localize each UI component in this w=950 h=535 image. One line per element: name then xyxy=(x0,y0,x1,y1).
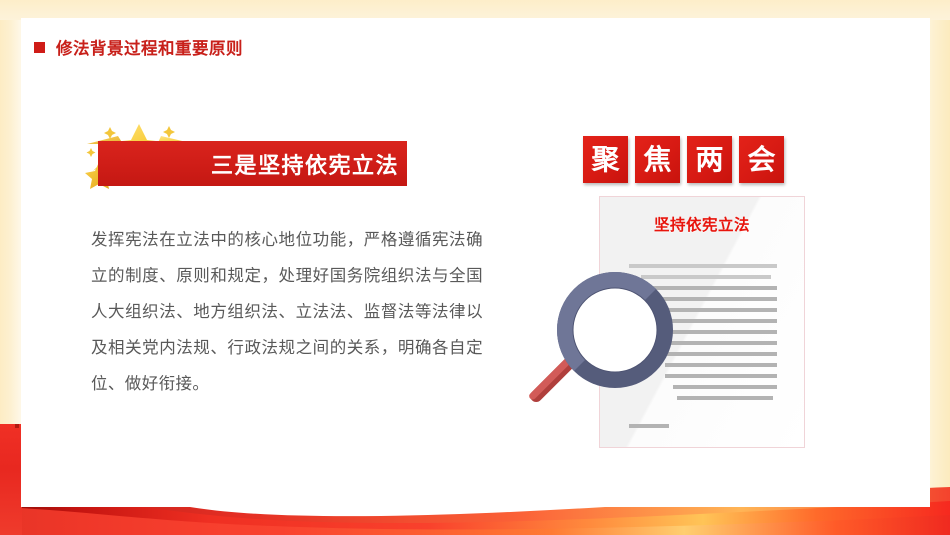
focus-badge-group: 聚 焦 两 会 xyxy=(583,136,784,183)
focus-badge: 聚 xyxy=(583,136,628,183)
magnifying-glass-icon xyxy=(511,254,691,434)
focus-badge-label: 聚 xyxy=(591,146,619,174)
background-top-band xyxy=(0,0,950,20)
ribbon-banner: 三是坚持依宪立法 xyxy=(98,141,407,186)
document-title: 坚持依宪立法 xyxy=(600,213,804,235)
left-red-dot xyxy=(15,424,19,428)
page-title: 修法背景过程和重要原则 xyxy=(56,35,243,59)
square-bullet-icon xyxy=(34,42,45,53)
document-text-line xyxy=(677,396,773,400)
body-paragraph: 发挥宪法在立法中的核心地位功能，严格遵循宪法确立的制度、原则和规定，处理好国务院… xyxy=(91,222,483,402)
section-heading-ribbon: 三是坚持依宪立法 xyxy=(77,118,412,190)
focus-badge: 会 xyxy=(739,136,784,183)
ribbon-title: 三是坚持依宪立法 xyxy=(211,148,399,180)
focus-badge-label: 两 xyxy=(695,146,723,174)
slide-root: 修法背景过程和重要原则 xyxy=(0,0,950,535)
focus-badge-label: 会 xyxy=(747,146,775,174)
document-with-magnifier-illustration: 坚持依宪立法 xyxy=(511,192,811,454)
focus-badge: 两 xyxy=(687,136,732,183)
focus-badge: 焦 xyxy=(635,136,680,183)
page-header: 修法背景过程和重要原则 xyxy=(34,35,243,59)
left-red-band xyxy=(0,424,22,535)
focus-badge-label: 焦 xyxy=(643,146,671,174)
